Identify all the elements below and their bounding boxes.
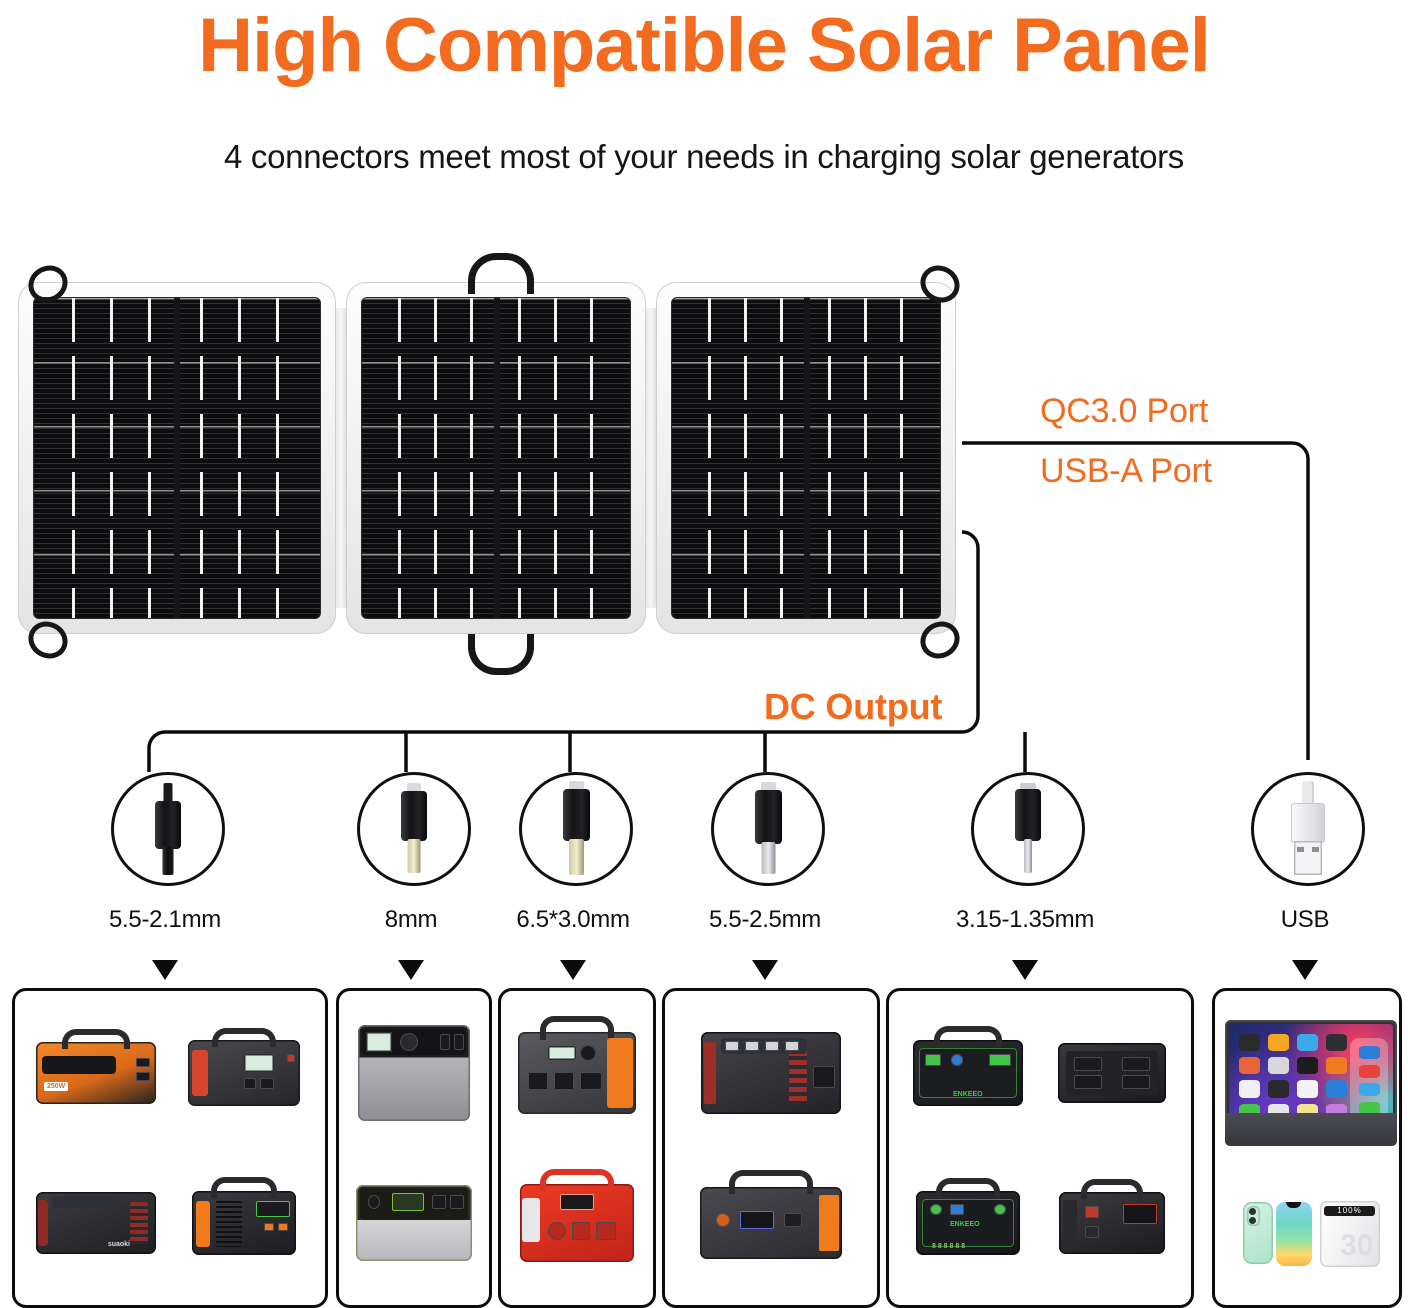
tablet-dock [1350, 1038, 1388, 1123]
arrow-down-icon [752, 960, 778, 980]
power-bank-capacity: 30 [1340, 1229, 1373, 1263]
solar-cell-array [362, 298, 630, 618]
arrow-down-icon [1292, 960, 1318, 980]
compat-box-usb: 100% 30 [1212, 988, 1402, 1308]
product-thumb [349, 1001, 479, 1145]
connector-circle-5-5-2-5mm [711, 772, 825, 886]
product-thumb [511, 1151, 643, 1295]
page-title: High Compatible Solar Panel [0, 8, 1408, 84]
arrow-down-icon [560, 960, 586, 980]
compat-box-6-5-3-0mm [498, 988, 656, 1308]
product-thumb: ENKEEO [899, 1001, 1037, 1145]
solar-cell-array [34, 298, 320, 618]
connector-circle-usb [1251, 772, 1365, 886]
dc-barrel-plug-icon [755, 782, 782, 876]
product-thumb [349, 1151, 479, 1295]
compat-box-3-15-1-35mm: ENKEEO ENKEEO 8 8 8 8 8 8 [886, 988, 1194, 1308]
smartphone-front [1276, 1202, 1312, 1266]
solar-cell-array [672, 298, 940, 618]
arrow-down-icon [152, 960, 178, 980]
product-thumb-tablet [1225, 1001, 1397, 1165]
dc-barrel-plug-icon [563, 781, 590, 877]
product-thumb [173, 1001, 315, 1145]
product-thumb: suaoki [25, 1151, 167, 1295]
arrow-down-icon [398, 960, 424, 980]
panel-hinge [646, 308, 656, 608]
product-thumb [173, 1151, 315, 1295]
connector-circle-5-5-2-1mm [111, 772, 225, 886]
solar-panel-section-left [18, 282, 336, 634]
product-thumb [1043, 1001, 1181, 1145]
product-thumb-mobile: 100% 30 [1225, 1173, 1397, 1295]
connector-circle-3-15-1-35mm [971, 772, 1085, 886]
connector-label-1: 5.5-2.1mm [75, 906, 255, 934]
compat-box-5-5-2-5mm [662, 988, 880, 1308]
product-thumb [675, 1151, 867, 1295]
callout-qc30-port: QC3.0 Port [1040, 392, 1208, 431]
usb-a-plug-icon [1291, 781, 1325, 877]
connector-label-6: USB [1215, 906, 1395, 934]
foldable-solar-panel [18, 270, 968, 652]
panel-hinge [336, 308, 346, 608]
compat-box-5-5-2-1mm: 250W suaoki [12, 988, 328, 1308]
connector-label-5: 3.15-1.35mm [935, 906, 1115, 934]
compat-box-8mm [336, 988, 492, 1308]
smartphone-back [1243, 1202, 1273, 1264]
product-thumb [511, 1001, 643, 1145]
page-subtitle: 4 connectors meet most of your needs in … [0, 138, 1408, 176]
product-thumb [675, 1001, 867, 1145]
dc-barrel-plug-icon [1015, 783, 1041, 875]
connector-label-2: 8mm [321, 906, 501, 934]
connector-circle-6-5-3-0mm [519, 772, 633, 886]
product-thumb [1043, 1151, 1181, 1295]
power-bank-display: 100% [1324, 1206, 1374, 1216]
callout-dc-output: DC Output [764, 686, 942, 728]
product-thumb: ENKEEO 8 8 8 8 8 8 [899, 1151, 1037, 1295]
solar-panel-section-right [656, 282, 956, 634]
arrow-down-icon [1012, 960, 1038, 980]
dc-barrel-plug-icon [155, 783, 181, 875]
solar-panel-section-middle [346, 282, 646, 634]
carry-handle-top [468, 253, 534, 294]
tablet-app-grid [1239, 1034, 1347, 1121]
connector-circle-8mm [357, 772, 471, 886]
dc-barrel-plug-icon [401, 783, 427, 875]
connector-label-3: 6.5*3.0mm [483, 906, 663, 934]
power-bank: 100% 30 [1320, 1201, 1380, 1267]
callout-usba-port: USB-A Port [1040, 452, 1212, 491]
connector-label-4: 5.5-2.5mm [675, 906, 855, 934]
product-thumb: 250W [25, 1001, 167, 1145]
carry-handle-bottom [468, 634, 534, 675]
